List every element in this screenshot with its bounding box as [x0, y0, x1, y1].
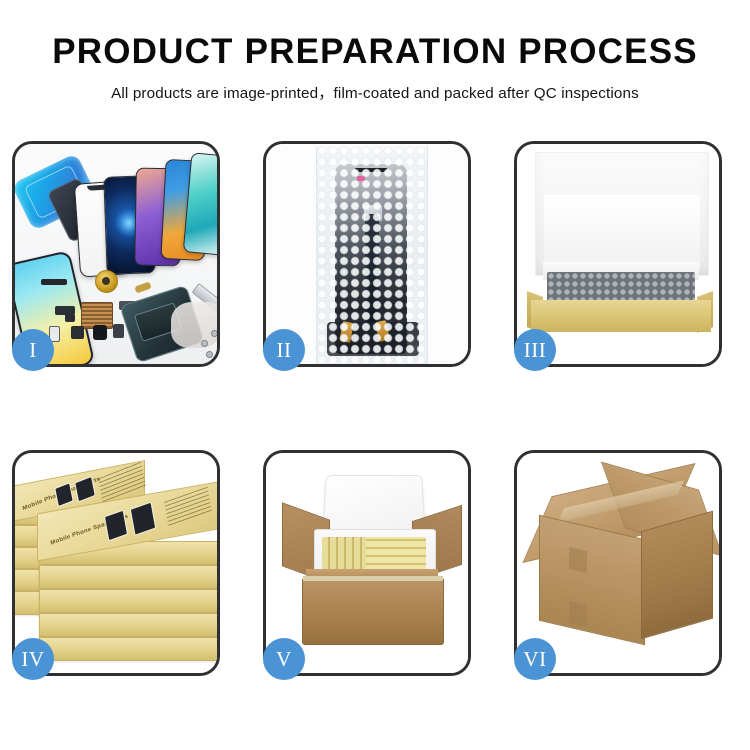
step-panel-5: V: [263, 450, 471, 676]
step-badge-6: VI: [514, 638, 556, 680]
speaker-coil-part: [95, 270, 118, 293]
carton-side-face: [641, 511, 713, 640]
screw-part: [206, 351, 213, 358]
kraft-box: [39, 613, 217, 637]
step-badge-4: IV: [12, 638, 54, 680]
step-image-4: Mobile Phone Spare Parts Mobile Phone Sp…: [15, 453, 217, 673]
kraft-tray-front: [531, 300, 711, 332]
step-badge-5: V: [263, 638, 305, 680]
step-panel-4: Mobile Phone Spare Parts Mobile Phone Sp…: [12, 450, 220, 676]
step-panel-2: II: [263, 141, 471, 367]
step-panel-3: III: [514, 141, 722, 367]
step-image-3: [517, 144, 719, 364]
step-panel-1: I: [12, 141, 220, 367]
step-badge-1: I: [12, 329, 54, 371]
step-image-2: [266, 144, 468, 364]
vibration-motor-part: [113, 324, 124, 338]
box-screen-image: [54, 482, 74, 507]
tape-patch: [569, 601, 587, 627]
bracket-part: [65, 314, 75, 322]
foam-lid-graphic: [535, 152, 709, 276]
kraft-box-stack: Mobile Phone Spare Parts Mobile Phone Sp…: [15, 467, 217, 663]
tape-patch: [569, 547, 587, 573]
process-steps-grid: I II: [12, 141, 738, 686]
page-title: PRODUCT PREPARATION PROCESS: [0, 34, 750, 71]
page-subtitle: All products are image-printed，film-coat…: [0, 81, 750, 103]
hand-graphic: [171, 302, 217, 348]
step-image-6: [517, 453, 719, 673]
box-screen-image: [104, 510, 128, 542]
step-badge-3: III: [514, 329, 556, 371]
carton-front-panel: [302, 579, 444, 645]
camera-module-part: [93, 325, 107, 340]
step-image-5: [266, 453, 468, 673]
bubble-texture-overlay: [317, 146, 427, 364]
styrofoam-lid: [322, 475, 426, 537]
step-badge-2: II: [263, 329, 305, 371]
product-preparation-process-page: PRODUCT PREPARATION PROCESS All products…: [0, 0, 750, 750]
box-spec-lines: [164, 487, 212, 527]
page-header: PRODUCT PREPARATION PROCESS All products…: [0, 0, 750, 103]
kraft-box: [39, 637, 217, 661]
box-screen-image: [130, 502, 157, 536]
phone-screen-lineup: [77, 154, 217, 274]
kraft-box: [39, 565, 217, 589]
step-image-1: [15, 144, 217, 364]
screw-part: [211, 330, 217, 337]
earpiece-mesh-part: [41, 279, 67, 285]
small-module-part: [71, 326, 84, 339]
kraft-box: [39, 589, 217, 613]
box-screen-image: [74, 476, 96, 503]
gold-flex-part: [134, 281, 151, 293]
bubble-wrap-bag: [316, 146, 428, 364]
screw-part: [201, 340, 208, 347]
step-panel-6: VI: [514, 450, 722, 676]
